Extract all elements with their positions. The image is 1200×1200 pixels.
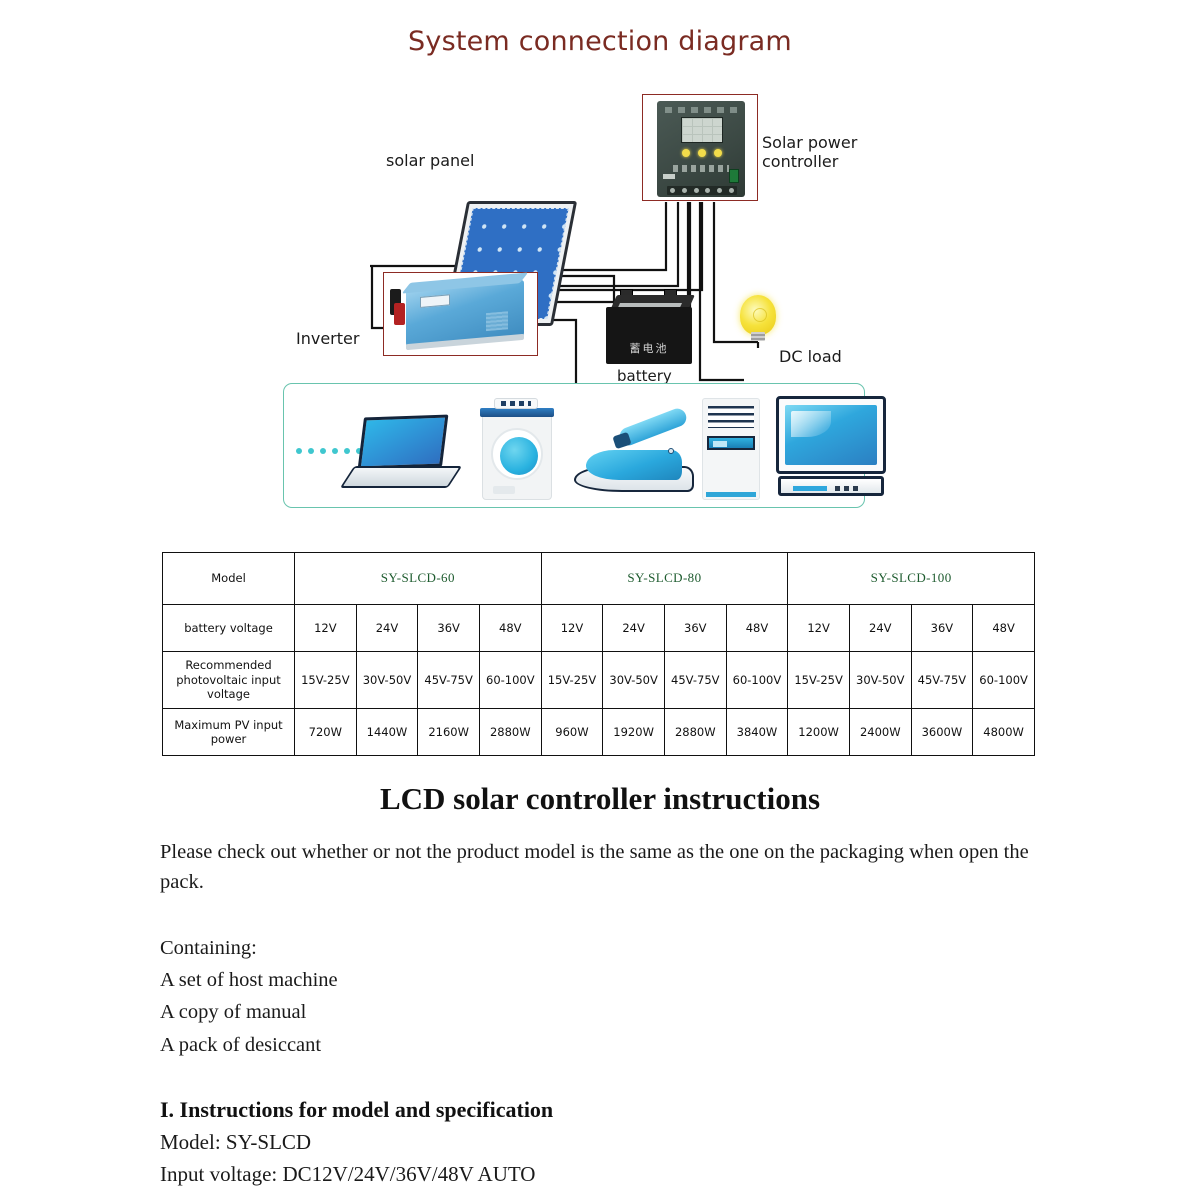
light-bulb-icon xyxy=(738,295,778,347)
cell-pv-voltage: 15V-25V xyxy=(541,652,603,709)
containing-list: Containing: A set of host machine A copy… xyxy=(160,932,338,1061)
check-paragraph: Please check out whether or not the prod… xyxy=(160,838,1040,897)
table-row-model: Model SY-SLCD-60 SY-SLCD-80 SY-SLCD-100 xyxy=(163,553,1035,605)
model-spec-lines: Model: SY-SLCD Input voltage: DC12V/24V/… xyxy=(160,1127,535,1191)
cell-max-pv-power: 4800W xyxy=(973,709,1035,756)
cell-pv-voltage: 60-100V xyxy=(973,652,1035,709)
cell-max-pv-power: 720W xyxy=(295,709,357,756)
label-dc-load: DC load xyxy=(779,348,842,367)
inverter-icon xyxy=(406,280,524,346)
containing-heading: Containing: xyxy=(160,932,338,964)
cell-max-pv-power: 1440W xyxy=(356,709,418,756)
section-title-model-spec: I. Instructions for model and specificat… xyxy=(160,1097,553,1123)
cell-pv-voltage: 45V-75V xyxy=(418,652,480,709)
model-header-100: SY-SLCD-100 xyxy=(788,553,1035,605)
cell-pv-voltage: 30V-50V xyxy=(356,652,418,709)
cell-battery-voltage: 24V xyxy=(356,605,418,652)
list-item: A copy of manual xyxy=(160,996,338,1028)
table-row-battery-voltage: battery voltage 12V 24V 36V 48V 12V 24V … xyxy=(163,605,1035,652)
row-label-battery-voltage: battery voltage xyxy=(163,605,295,652)
cell-pv-voltage: 45V-75V xyxy=(911,652,973,709)
model-header-60: SY-SLCD-60 xyxy=(295,553,542,605)
solar-controller-highlight-box xyxy=(642,94,758,201)
monitor-icon xyxy=(776,396,886,502)
system-connection-diagram: solar panel Solar power controller Inver… xyxy=(0,80,1200,520)
cell-max-pv-power: 1200W xyxy=(788,709,850,756)
cell-max-pv-power: 1920W xyxy=(603,709,665,756)
product-info-page: System connection diagram xyxy=(0,0,1200,1200)
model-line: Model: SY-SLCD xyxy=(160,1127,535,1159)
cell-max-pv-power: 2160W xyxy=(418,709,480,756)
specification-table: Model SY-SLCD-60 SY-SLCD-80 SY-SLCD-100 … xyxy=(162,552,1035,756)
row-label-pv-input-voltage: Recommended photovoltaic input voltage xyxy=(163,652,295,709)
cell-max-pv-power: 960W xyxy=(541,709,603,756)
cell-battery-voltage: 36V xyxy=(664,605,726,652)
label-inverter: Inverter xyxy=(296,330,359,349)
cell-max-pv-power: 3600W xyxy=(911,709,973,756)
cell-battery-voltage: 12V xyxy=(295,605,357,652)
air-conditioner-icon xyxy=(702,398,760,500)
cell-pv-voltage: 30V-50V xyxy=(849,652,911,709)
cell-max-pv-power: 3840W xyxy=(726,709,788,756)
label-solar-panel: solar panel xyxy=(386,152,474,171)
controller-terminals xyxy=(667,186,737,195)
cell-battery-voltage: 48V xyxy=(726,605,788,652)
battery-icon: 蓄电池 xyxy=(606,289,692,364)
cell-pv-voltage: 15V-25V xyxy=(788,652,850,709)
row-label-max-pv-power: Maximum PV input power xyxy=(163,709,295,756)
cell-battery-voltage: 48V xyxy=(973,605,1035,652)
cell-pv-voltage: 60-100V xyxy=(726,652,788,709)
cell-battery-voltage: 12V xyxy=(788,605,850,652)
controller-lcd-screen xyxy=(681,117,723,143)
battery-device-text: 蓄电池 xyxy=(614,340,684,356)
cell-battery-voltage: 36V xyxy=(418,605,480,652)
cell-max-pv-power: 2880W xyxy=(479,709,541,756)
model-header-80: SY-SLCD-80 xyxy=(541,553,788,605)
input-voltage-line: Input voltage: DC12V/24V/36V/48V AUTO xyxy=(160,1159,535,1191)
cell-battery-voltage: 48V xyxy=(479,605,541,652)
cell-battery-voltage: 24V xyxy=(603,605,665,652)
instructions-title: LCD solar controller instructions xyxy=(0,781,1200,817)
cell-pv-voltage: 30V-50V xyxy=(603,652,665,709)
cell-battery-voltage: 12V xyxy=(541,605,603,652)
diagram-title: System connection diagram xyxy=(0,26,1200,57)
cell-max-pv-power: 2400W xyxy=(849,709,911,756)
cell-pv-voltage: 15V-25V xyxy=(295,652,357,709)
cell-battery-voltage: 24V xyxy=(849,605,911,652)
list-item: A pack of desiccant xyxy=(160,1029,338,1061)
inverter-highlight-box xyxy=(383,272,538,356)
cell-pv-voltage: 60-100V xyxy=(479,652,541,709)
row-label-model: Model xyxy=(163,553,295,605)
table-row-max-pv-power: Maximum PV input power 720W 1440W 2160W … xyxy=(163,709,1035,756)
solar-controller-icon xyxy=(657,101,745,197)
ac-load-panel xyxy=(283,383,865,508)
list-item: A set of host machine xyxy=(160,964,338,996)
iron-icon xyxy=(574,418,694,494)
cell-max-pv-power: 2880W xyxy=(664,709,726,756)
cell-pv-voltage: 45V-75V xyxy=(664,652,726,709)
cell-battery-voltage: 36V xyxy=(911,605,973,652)
controller-led-indicators xyxy=(682,149,722,157)
table-row-pv-input-voltage: Recommended photovoltaic input voltage 1… xyxy=(163,652,1035,709)
laptop-icon xyxy=(347,416,455,494)
label-solar-power-controller: Solar power controller xyxy=(762,134,857,172)
washing-machine-icon xyxy=(482,400,552,500)
